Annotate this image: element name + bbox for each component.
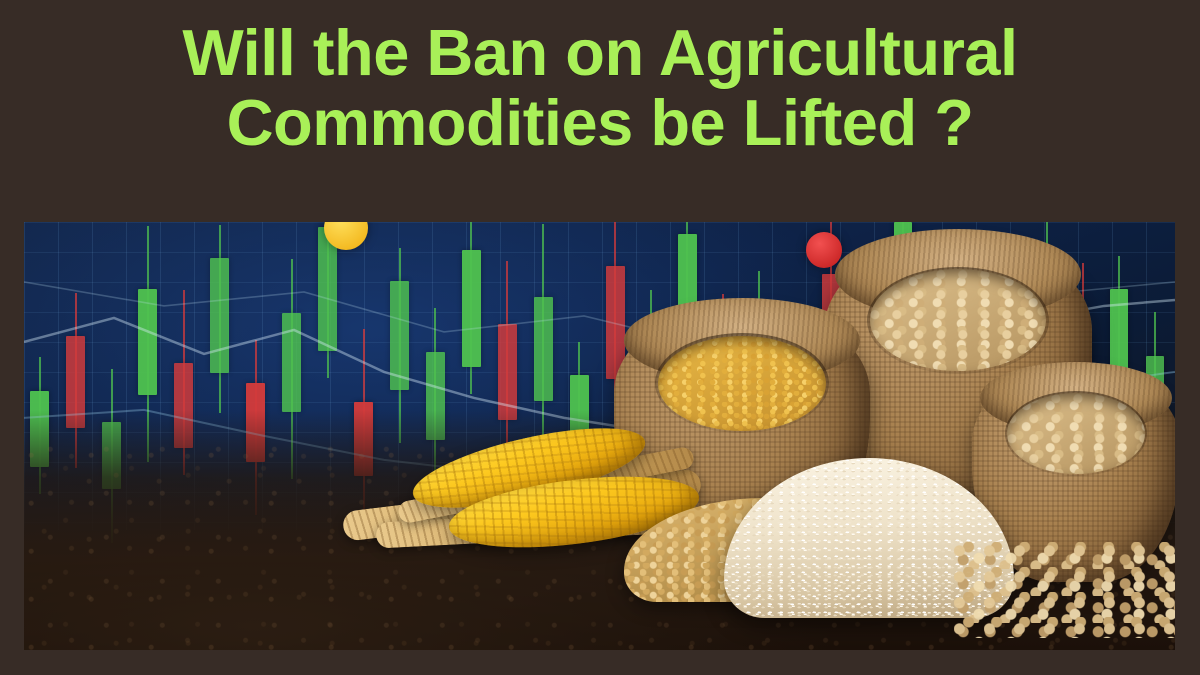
hero-photo — [24, 222, 1175, 650]
red-dot-marker — [806, 232, 842, 268]
sack-mouth-shadow — [1005, 391, 1146, 476]
sack-mouth-shadow — [867, 267, 1049, 374]
candle-body — [138, 289, 157, 395]
candle-body — [534, 297, 553, 401]
soybean-scatter — [954, 542, 1175, 638]
candle-body — [282, 313, 301, 412]
candle-body — [390, 281, 409, 389]
commodity-news-banner: Will the Ban on Agricultural Commodities… — [0, 0, 1200, 675]
title-line-2: Commodities be Lifted ? — [0, 88, 1200, 158]
photo-alt-text: Burlap sacks of wheat, soybeans and rice… — [0, 0, 1, 1]
page-title: Will the Ban on Agricultural Commodities… — [0, 18, 1200, 158]
candle-body — [462, 250, 481, 367]
candle-body — [210, 258, 229, 373]
sack-mouth-shadow — [655, 333, 829, 433]
candle-body — [498, 324, 517, 420]
title-line-1: Will the Ban on Agricultural — [0, 18, 1200, 88]
